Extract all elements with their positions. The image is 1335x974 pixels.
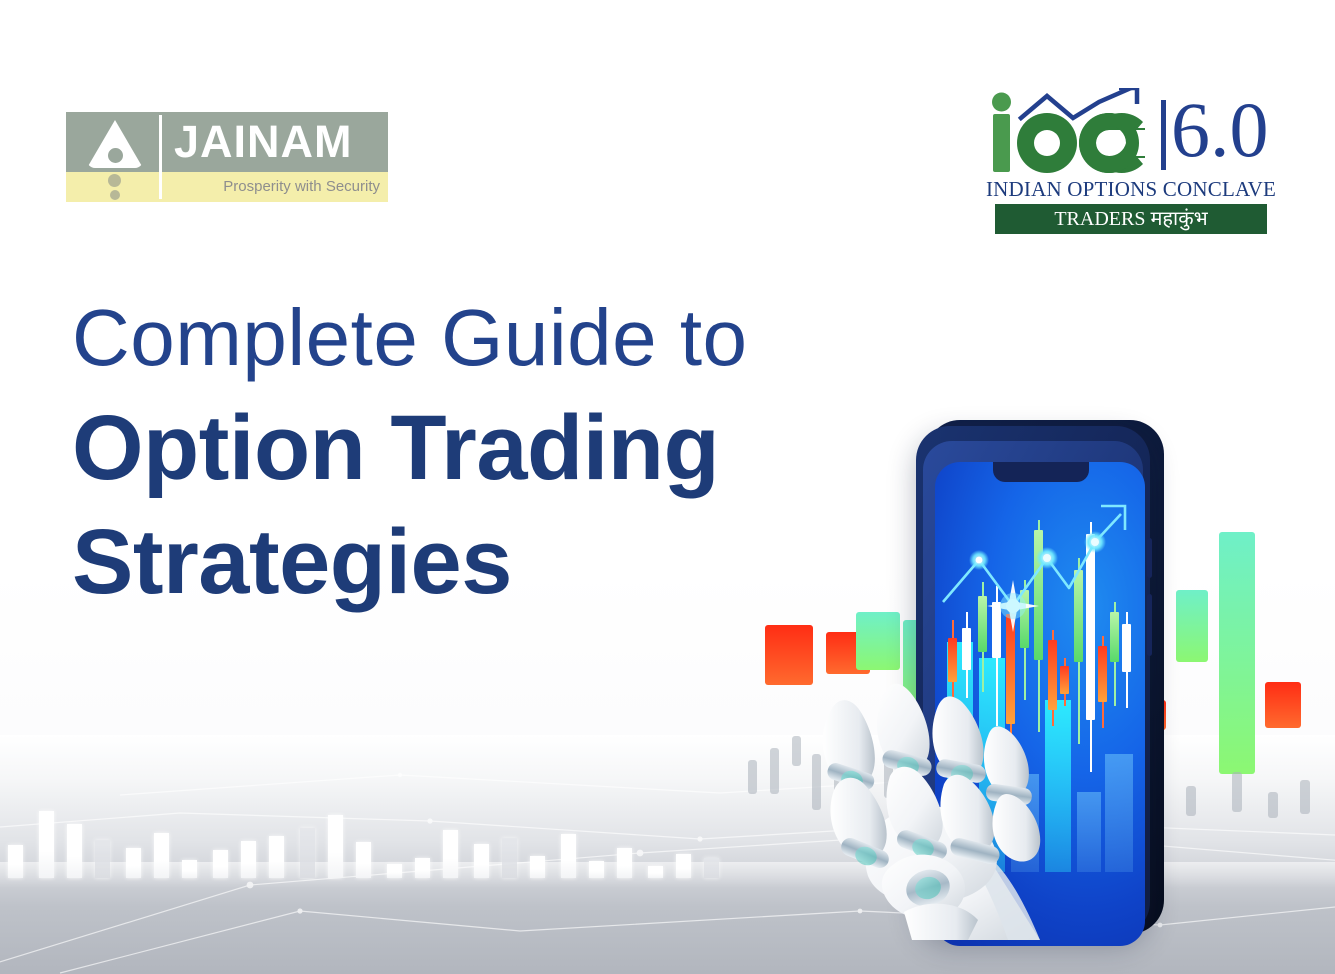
ghost-stick xyxy=(748,760,757,794)
floor-bar xyxy=(356,842,371,878)
floor-bar xyxy=(474,844,489,878)
floor-bar xyxy=(182,860,197,878)
ioc-tagline-text: TRADERS महाकुंभ xyxy=(995,204,1267,234)
floor-bar xyxy=(502,838,517,878)
floor-bar xyxy=(39,811,54,878)
phone-side-button-upper[interactable] xyxy=(1147,538,1152,578)
floor-bar xyxy=(530,856,545,878)
floor-bar xyxy=(617,848,632,878)
ioc-tagline-band: TRADERS महाकुंभ xyxy=(995,204,1267,234)
floor-bar xyxy=(704,858,719,878)
ghost-stick xyxy=(1268,792,1278,818)
floating-red-bar xyxy=(1265,682,1301,728)
ghost-stick xyxy=(1186,786,1196,816)
headline-line-2: Option Trading xyxy=(72,398,719,498)
floor-bar xyxy=(443,830,458,878)
ioc-logo[interactable]: 6.0 INDIAN OPTIONS CONCLAVE TRADERS महाक… xyxy=(985,86,1277,234)
logo-dot-small-icon xyxy=(110,190,120,200)
floating-green-bar xyxy=(1176,590,1208,662)
floor-bar xyxy=(300,828,315,878)
ioc-subtitle: INDIAN OPTIONS CONCLAVE xyxy=(985,176,1277,202)
ghost-stick xyxy=(1232,772,1242,812)
poster-canvas: JAINAM Prosperity with Security xyxy=(0,0,1335,974)
floating-green-bar xyxy=(1219,532,1255,774)
triangle-inner-dot-icon xyxy=(108,148,123,163)
phone-side-button-lower[interactable] xyxy=(1147,594,1152,656)
ioc-wordmark-icon xyxy=(991,88,1161,174)
floor-bar xyxy=(95,840,110,878)
logo-dot-medium-icon xyxy=(108,174,121,187)
floor-bar xyxy=(676,854,691,878)
headline-line-1: Complete Guide to xyxy=(72,296,748,380)
floor-bar xyxy=(241,841,256,878)
floor-bar xyxy=(415,858,430,878)
floor-bar xyxy=(8,845,23,878)
floor-bar xyxy=(67,824,82,878)
phone-notch xyxy=(993,462,1089,482)
jainam-tagline: Prosperity with Security xyxy=(174,174,380,200)
floor-bar xyxy=(328,815,343,878)
floor-bar xyxy=(561,834,576,878)
ioc-logo-mark-row: 6.0 xyxy=(985,86,1277,174)
floor-bar xyxy=(589,861,604,878)
robotic-hand-icon xyxy=(772,640,1062,940)
floor-bar xyxy=(126,848,141,878)
floor-bar xyxy=(387,864,402,878)
jainam-wordmark: JAINAM xyxy=(174,114,384,170)
ghost-stick xyxy=(1300,780,1310,814)
floor-bar xyxy=(213,850,228,878)
ioc-divider xyxy=(1161,100,1166,170)
floor-bar xyxy=(269,836,284,878)
floor-bar xyxy=(648,866,663,878)
logo-divider xyxy=(159,115,162,199)
jainam-logo[interactable]: JAINAM Prosperity with Security xyxy=(66,112,388,202)
headline-line-3: Strategies xyxy=(72,512,512,612)
floor-bar xyxy=(154,833,169,878)
ioc-version-number: 6.0 xyxy=(1171,86,1275,174)
